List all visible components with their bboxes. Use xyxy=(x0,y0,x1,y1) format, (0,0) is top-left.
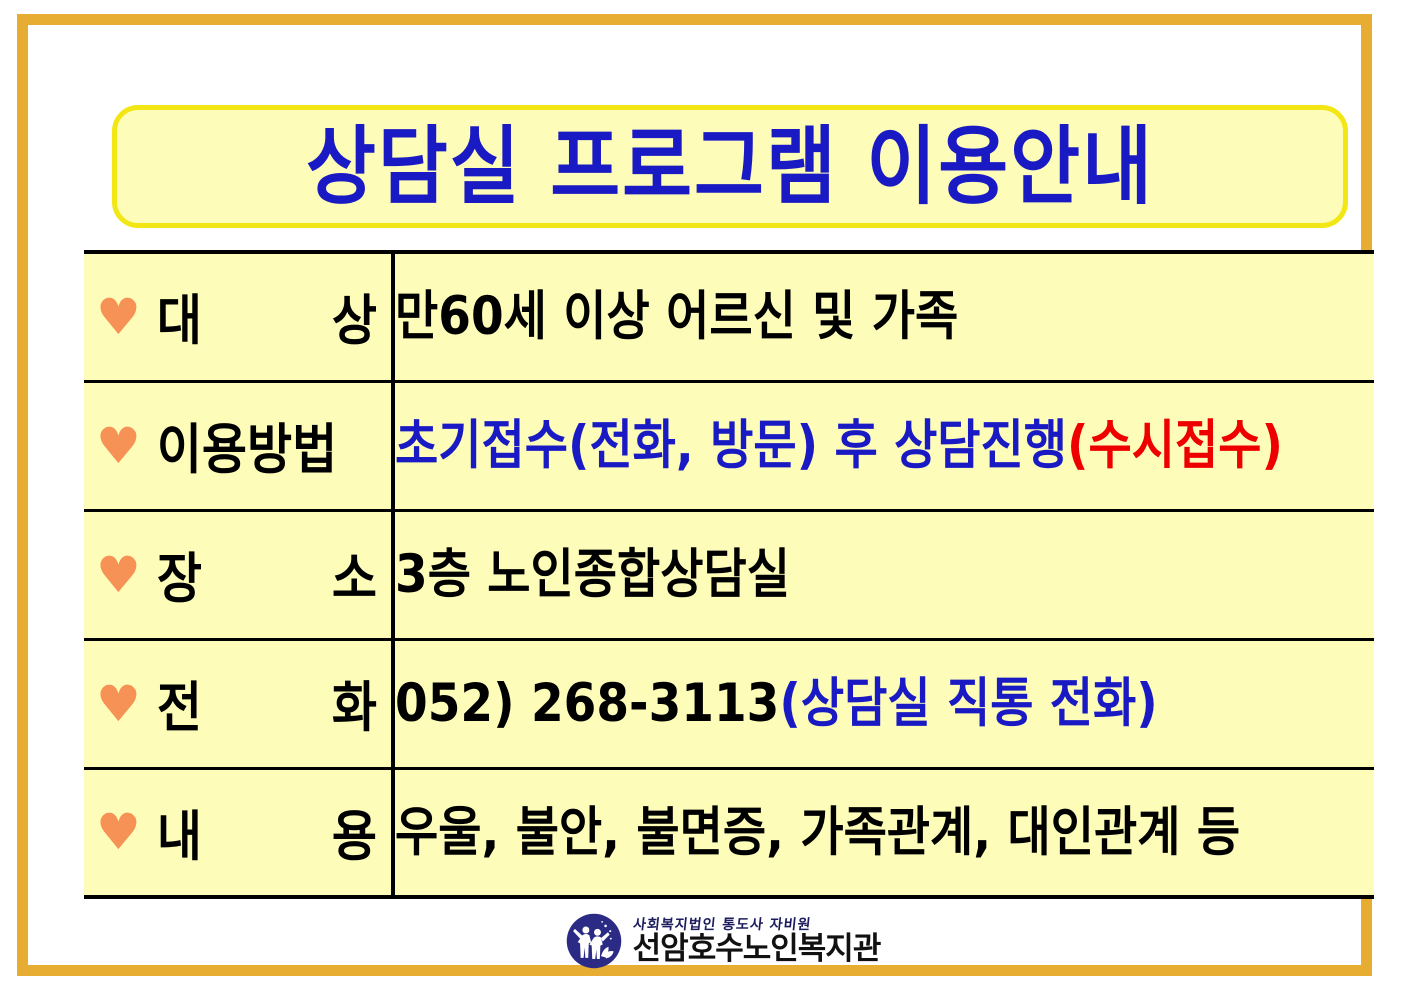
program-info-table-body: ♥ 대상 만60세 이상 어르신 및 가족 xyxy=(84,252,1374,897)
row-value-cell: 052) 268-3113(상담실 직통 전화) xyxy=(393,639,1374,768)
table-row: ♥ 대상 만60세 이상 어르신 및 가족 xyxy=(84,252,1374,381)
table-row: ♥ 전화 052) 268-3113(상담실 직통 전화) xyxy=(84,639,1374,768)
program-info-table: ♥ 대상 만60세 이상 어르신 및 가족 xyxy=(84,250,1374,899)
row-label-inner: ♥ 이용방법 xyxy=(84,410,391,481)
row-value-cell: 만60세 이상 어르신 및 가족 xyxy=(393,252,1374,381)
row-label-text: 전화 xyxy=(157,664,377,742)
value-segment-highlight: (수시접수) xyxy=(1067,415,1283,477)
value-segment-note: (상담실 직통 전화) xyxy=(779,673,1157,735)
label-char: 소 xyxy=(332,535,377,613)
label-char: 전 xyxy=(157,664,202,742)
title-banner: 상담실 프로그램 이용안내 xyxy=(112,105,1348,228)
poster-outer-frame: 상담실 프로그램 이용안내 ♥ 대상 xyxy=(17,14,1372,976)
label-char: 대 xyxy=(157,278,202,356)
poster-content: 상담실 프로그램 이용안내 ♥ 대상 xyxy=(56,50,1389,990)
label-char: 용 xyxy=(332,793,377,871)
organization-prefix: 사회복지법인 통도사 자비원 xyxy=(632,918,881,932)
row-value-cell: 초기접수(전화, 방문) 후 상담진행(수시접수) xyxy=(393,381,1374,510)
row-value-text: 052) 268-3113(상담실 직통 전화) xyxy=(395,677,1374,730)
row-label-cell: ♥ 전화 xyxy=(84,639,393,768)
label-char: 상 xyxy=(332,278,377,356)
row-label-inner: ♥ 대상 xyxy=(84,281,391,352)
heart-icon: ♥ xyxy=(96,679,141,729)
heart-icon: ♥ xyxy=(96,421,141,471)
row-value-cell: 3층 노인종합상담실 xyxy=(393,510,1374,639)
heart-icon: ♥ xyxy=(96,550,141,600)
heart-icon: ♥ xyxy=(96,292,141,342)
row-label-inner: ♥ 전화 xyxy=(84,668,391,739)
row-label-text: 내용 xyxy=(157,793,377,871)
row-label-cell: ♥ 대상 xyxy=(84,252,393,381)
row-value-text: 만60세 이상 어르신 및 가족 xyxy=(395,290,1374,343)
row-value-text: 3층 노인종합상담실 xyxy=(395,548,1374,601)
table-row: ♥ 장소 3층 노인종합상담실 xyxy=(84,510,1374,639)
value-segment: 초기접수(전화, 방문) 후 상담진행 xyxy=(395,415,1067,477)
row-value-text: 우울, 불안, 불면증, 가족관계, 대인관계 등 xyxy=(395,806,1374,859)
row-label-inner: ♥ 장소 xyxy=(84,539,391,610)
page-title: 상담실 프로그램 이용안내 xyxy=(306,124,1154,209)
phone-number: 052) 268-3113 xyxy=(395,673,779,735)
row-label-text: 이용방법 xyxy=(157,406,377,484)
row-label-cell: ♥ 내용 xyxy=(84,768,393,897)
poster-root: 상담실 프로그램 이용안내 ♥ 대상 xyxy=(0,0,1403,992)
row-label-text: 장소 xyxy=(157,535,377,613)
welfare-center-circle-logo-icon xyxy=(565,912,623,970)
row-label-inner: ♥ 내용 xyxy=(84,797,391,868)
value-segment: 만60세 이상 어르신 및 가족 xyxy=(395,286,958,348)
footer-logo: 사회복지법인 통도사 자비원 선암호수노인복지관 xyxy=(56,912,1389,970)
heart-icon: ♥ xyxy=(96,807,141,857)
row-label-cell: ♥ 장소 xyxy=(84,510,393,639)
organization-name: 선암호수노인복지관 xyxy=(633,934,881,965)
row-value-text: 초기접수(전화, 방문) 후 상담진행(수시접수) xyxy=(395,419,1374,472)
label-char: 장 xyxy=(157,535,202,613)
table-row: ♥ 내용 우울, 불안, 불면증, 가족관계, 대인관계 등 xyxy=(84,768,1374,897)
logo-wordmark: 사회복지법인 통도사 자비원 선암호수노인복지관 xyxy=(633,918,881,965)
row-value-cell: 우울, 불안, 불면증, 가족관계, 대인관계 등 xyxy=(393,768,1374,897)
label-char: 화 xyxy=(332,664,377,742)
label-char: 내 xyxy=(157,793,202,871)
value-segment: 3층 노인종합상담실 xyxy=(395,544,790,606)
row-label-text: 대상 xyxy=(157,278,377,356)
table-row: ♥ 이용방법 초기접수(전화, 방문) 후 상담진행(수시접수) xyxy=(84,381,1374,510)
value-segment: 우울, 불안, 불면증, 가족관계, 대인관계 등 xyxy=(395,801,1240,863)
row-label-cell: ♥ 이용방법 xyxy=(84,381,393,510)
